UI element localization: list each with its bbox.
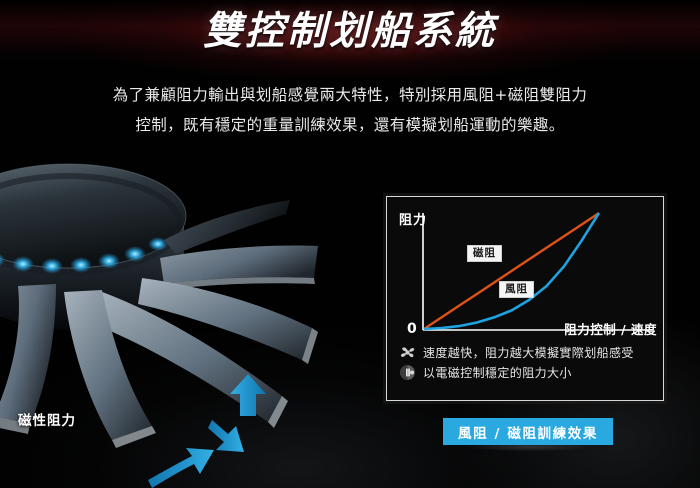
illustration-svg	[0, 150, 372, 488]
annotation-text-fan: 速度越快，阻力越大模擬實際划船感受	[423, 344, 634, 361]
cta-shadow	[441, 444, 617, 453]
magnet-icon	[399, 364, 416, 381]
infographic-root: 雙控制划船系統 為了兼顧阻力輸出與划船感覺兩大特性，特別採用風阻+磁阻雙阻力 控…	[0, 0, 700, 488]
cta-button[interactable]: 風阻 / 磁阻訓練效果	[443, 418, 613, 445]
subtitle-line-2: 控制，既有穩定的重量訓練效果，還有模擬划船運動的樂趣。	[40, 110, 660, 140]
flywheel-fan-illustration: 磁性阻力 風扇阻力	[0, 150, 372, 488]
resistance-chart-panel: 阻力 0 阻力控制 / 速度 磁阻 風阻 速度越快	[386, 196, 664, 401]
annotation-text-magnet: 以電磁控制穩定的阻力大小	[423, 364, 572, 381]
annotation-row-magnet: 以電磁控制穩定的阻力大小	[397, 363, 655, 382]
page-title: 雙控制划船系統	[0, 8, 700, 57]
airflow-arrow-up-2	[208, 420, 244, 452]
subtitle-line-1: 為了兼顧阻力輸出與划船感覺兩大特性，特別採用風阻+磁阻雙阻力	[40, 80, 660, 110]
magnetic-resistance-label: 磁性阻力	[18, 409, 76, 429]
chart-origin-label: 0	[407, 321, 417, 337]
chart-annotations: 速度越快，阻力越大模擬實際划船感受 以電磁控制穩定的阻力大小	[397, 343, 655, 383]
fan-icon	[399, 344, 416, 361]
series-label-wind: 風阻	[499, 281, 534, 298]
chart-y-axis-label: 阻力	[399, 209, 427, 228]
chart-x-axis-label: 阻力控制 / 速度	[564, 319, 657, 338]
airflow-arrow-up-3	[148, 448, 214, 488]
annotation-row-fan: 速度越快，阻力越大模擬實際划船感受	[397, 343, 655, 362]
series-label-magnetic: 磁阻	[467, 245, 502, 262]
page-subtitle: 為了兼顧阻力輸出與划船感覺兩大特性，特別採用風阻+磁阻雙阻力 控制，既有穩定的重…	[40, 80, 660, 140]
